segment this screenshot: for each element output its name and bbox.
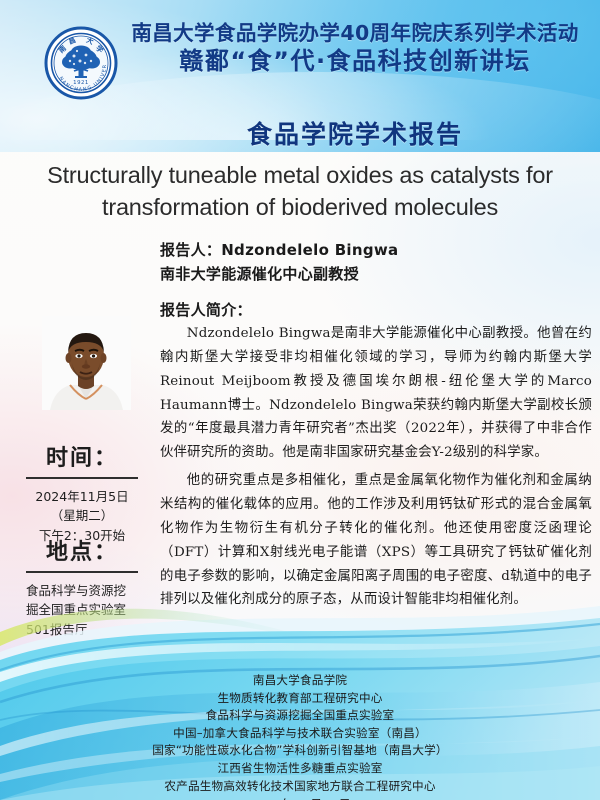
- speaker-name: 报告人：Ndzondelelo Bingwa: [160, 238, 588, 262]
- bio-paragraph-1: Ndzondelelo Bingwa是南非大学能源催化中心副教授。他曾在约翰内斯…: [160, 322, 592, 465]
- speaker-affiliation: 南非大学能源催化中心副教授: [160, 262, 588, 286]
- footer-line-2: 生物质转化教育部工程研究中心: [0, 690, 600, 708]
- time-line-1: 2024年11月5日: [12, 487, 152, 506]
- poster-canvas: 1921 南 昌 大 学 NANCHANG UNIVERSITY 南昌大学食品学…: [0, 0, 600, 800]
- footer-line-5: 国家“功能性碳水化合物”学科创新引智基地（南昌大学）: [0, 742, 600, 760]
- footer-line-7: 农产品生物高效转化技术国家地方联合工程研究中心: [0, 778, 600, 796]
- footer-line-3: 食品科学与资源挖掘全国重点实验室: [0, 707, 600, 725]
- banner-line-3: 食品学院学术报告: [120, 115, 590, 151]
- footer-date: 2024年10月31日: [0, 795, 600, 800]
- speaker-photo: [42, 316, 131, 410]
- time-divider: [26, 477, 138, 479]
- footer-line-1: 南昌大学食品学院: [0, 672, 600, 690]
- speaker-info: 报告人：Ndzondelelo Bingwa 南非大学能源催化中心副教授: [160, 238, 588, 286]
- svg-text:1921: 1921: [73, 80, 89, 86]
- bio-label: 报告人简介：: [160, 299, 252, 320]
- footer-line-4: 中国–加拿大食品科学与技术联合实验室（南昌）: [0, 725, 600, 743]
- banner-line-1: 南昌大学食品学院办学40周年院庆系列学术活动: [120, 22, 590, 46]
- time-heading: 时间：: [12, 440, 152, 472]
- banner-title-group: 南昌大学食品学院办学40周年院庆系列学术活动 赣鄱“食”代·食品科技创新讲坛: [120, 22, 590, 76]
- header-banner: 1921 南 昌 大 学 NANCHANG UNIVERSITY 南昌大学食品学…: [0, 0, 600, 152]
- footer-line-6: 江西省生物活性多糖重点实验室: [0, 760, 600, 778]
- banner-line-2: 赣鄱“食”代·食品科技创新讲坛: [120, 48, 590, 76]
- nanchang-university-seal-icon: 1921 南 昌 大 学 NANCHANG UNIVERSITY: [44, 26, 118, 100]
- time-block: 时间： 2024年11月5日 （星期二） 下午2：30开始: [12, 440, 152, 545]
- time-line-2: （星期二）: [12, 506, 152, 525]
- page-title-english: Structurally tuneable metal oxides as ca…: [20, 160, 580, 223]
- footer-organizations: 南昌大学食品学院 生物质转化教育部工程研究中心 食品科学与资源挖掘全国重点实验室…: [0, 672, 600, 800]
